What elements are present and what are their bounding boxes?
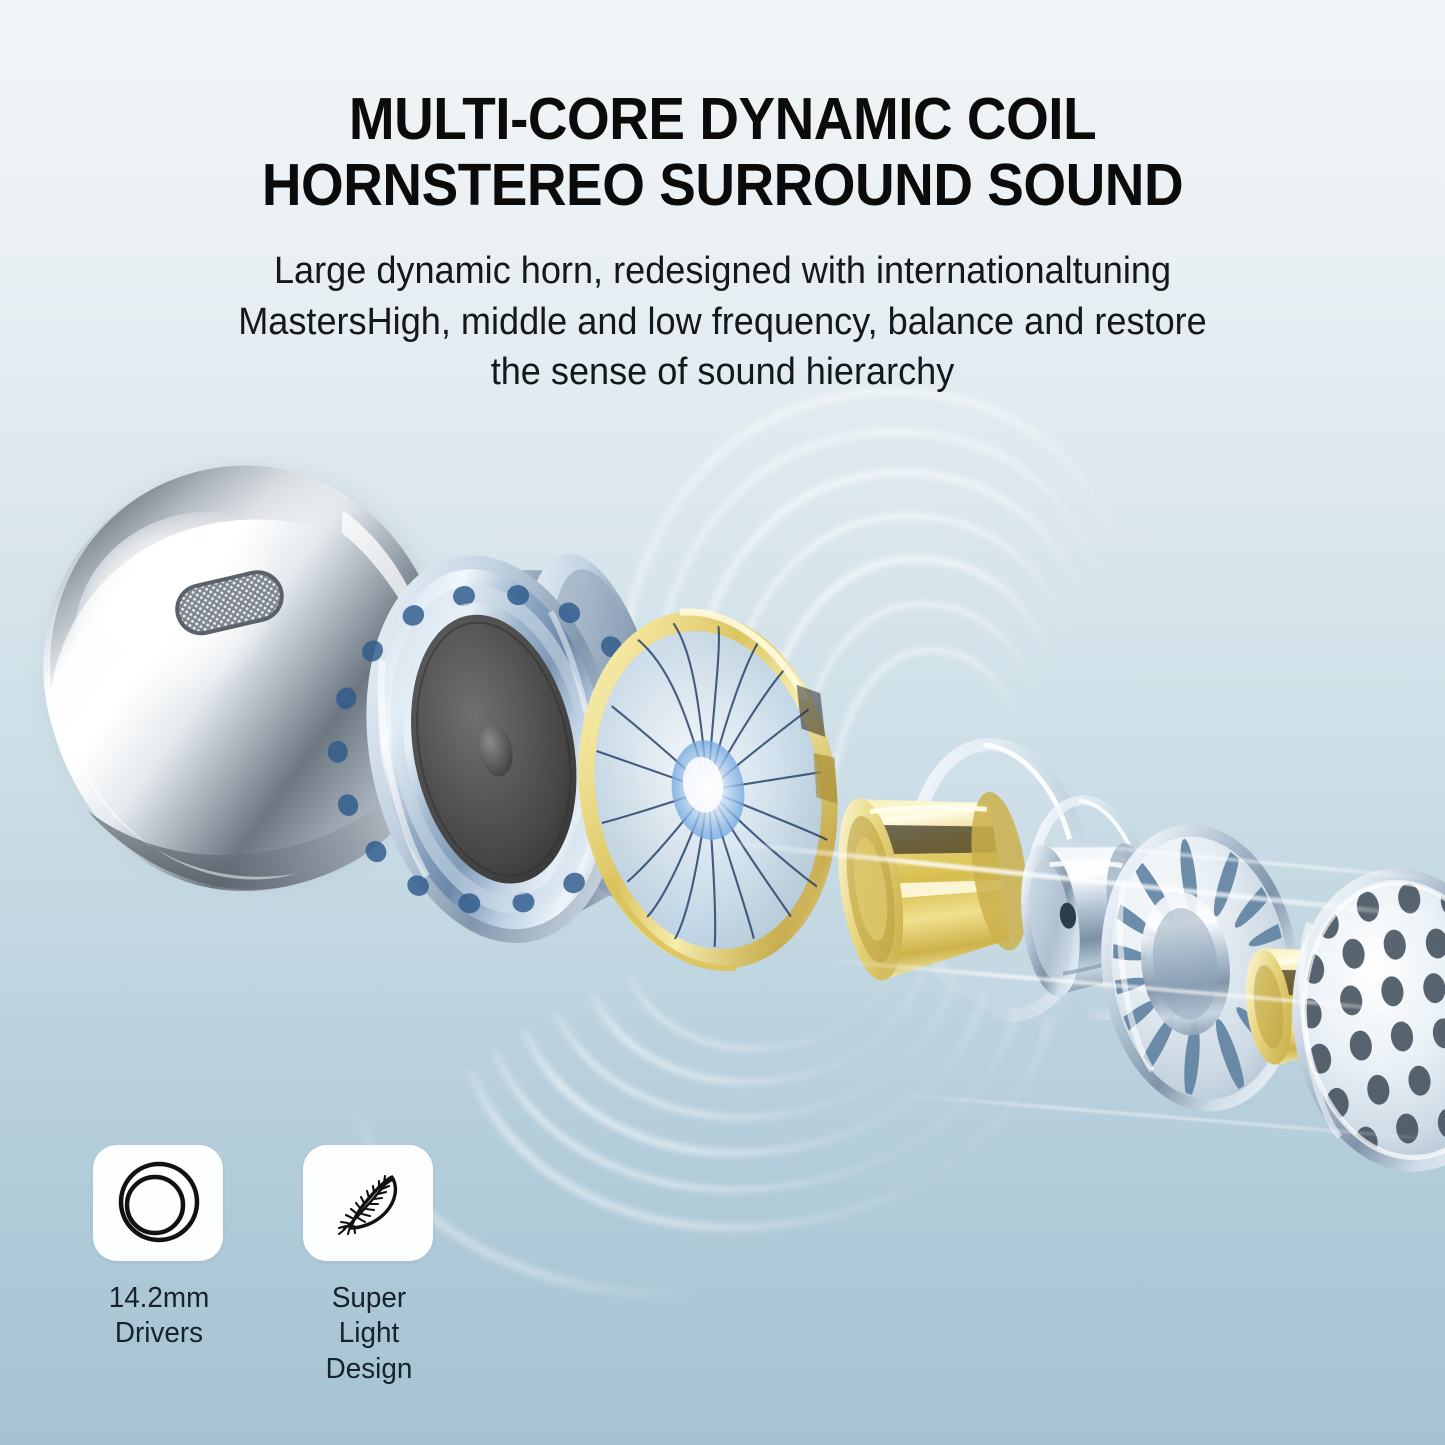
badge-card — [303, 1145, 433, 1261]
page-title: MULTI-CORE DYNAMIC COIL HORNSTEREO SURRO… — [51, 86, 1395, 218]
badge-label: 14.2mm Drivers — [96, 1281, 223, 1352]
feature-badge-list: 14.2mm Drivers — [93, 1145, 435, 1387]
feature-badge-light-design[interactable]: Super Light Design — [303, 1145, 435, 1387]
badge-card — [93, 1145, 223, 1261]
badge-label: Super Light Design — [306, 1281, 433, 1387]
feather-icon — [322, 1157, 414, 1249]
product-feature-poster: MULTI-CORE DYNAMIC COIL HORNSTEREO SURRO… — [0, 0, 1445, 1445]
concentric-circles-icon — [112, 1157, 204, 1249]
sound-ripples-lower — [352, 960, 1050, 1295]
page-subtitle: Large dynamic horn, redesigned with inte… — [36, 246, 1409, 398]
feature-badge-drivers[interactable]: 14.2mm Drivers — [93, 1145, 225, 1387]
